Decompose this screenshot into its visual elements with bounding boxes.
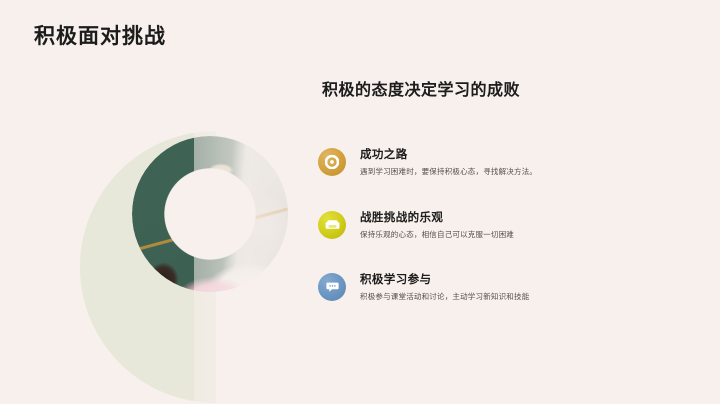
feature-text: 战胜挑战的乐观 保持乐观的心态，相信自己可以克服一切困难 [360,210,514,241]
chat-bubble-icon [318,273,346,301]
feature-description: 积极参与课堂活动和讨论，主动学习新知识和技能 [360,292,529,302]
feature-text: 积极学习参与 积极参与课堂活动和讨论，主动学习新知识和技能 [360,272,529,303]
feature-list: 成功之路 遇到学习困难时，要保持积极心态，寻找解决方法。 战胜挑战的乐观 保持乐… [318,147,688,303]
feature-title: 战胜挑战的乐观 [360,211,514,225]
page-title: 积极面对挑战 [34,24,166,49]
slide-canvas: 积极面对挑战 积极的态度决定学习的成败 成功之路 遇到学习困难 [0,0,720,404]
feature-description: 遇到学习困难时，要保持积极心态，寻找解决方法。 [360,167,537,177]
content-heading: 积极的态度决定学习的成败 [322,76,688,100]
feature-description: 保持乐观的心态，相信自己可以克服一切困难 [360,230,514,240]
feature-item[interactable]: 积极学习参与 积极参与课堂活动和讨论，主动学习新知识和技能 [318,272,688,303]
feature-text: 成功之路 遇到学习困难时，要保持积极心态，寻找解决方法。 [360,147,537,178]
content-column: 积极的态度决定学习的成败 成功之路 遇到学习困难时，要保持积极心态，寻找解决方法… [318,76,688,303]
target-circle-icon [318,148,346,176]
classroom-photo [132,136,288,292]
envelope-icon [318,211,346,239]
feature-title: 成功之路 [360,148,537,162]
feature-title: 积极学习参与 [360,273,529,287]
feature-item[interactable]: 战胜挑战的乐观 保持乐观的心态，相信自己可以克服一切困难 [318,210,688,241]
feature-item[interactable]: 成功之路 遇到学习困难时，要保持积极心态，寻找解决方法。 [318,147,688,178]
decorative-graphic [60,55,320,404]
photo-donut-ring [132,136,288,292]
